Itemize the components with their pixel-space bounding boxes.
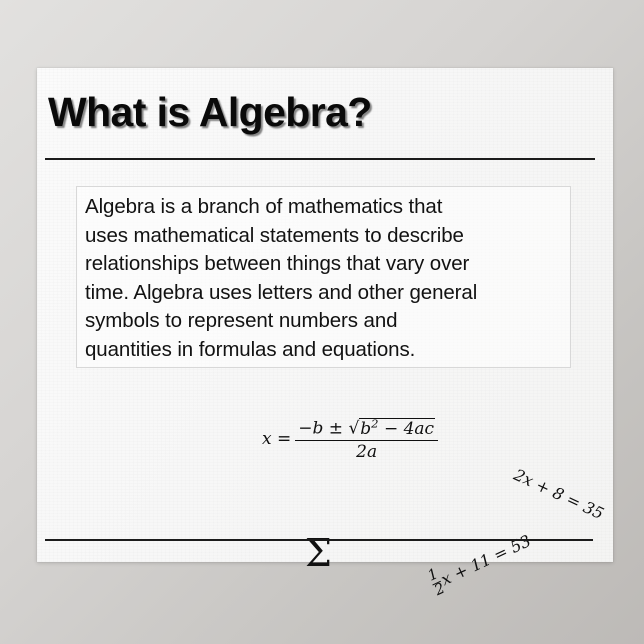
radicand-rest: − 4ac — [384, 419, 434, 439]
radicand-exponent: 2 — [371, 416, 378, 430]
quadratic-lhs: x = — [262, 429, 291, 449]
quadratic-formula: x = −b ± √b2 − 4ac 2a — [262, 416, 438, 462]
title-divider-rule — [45, 158, 595, 160]
body-paragraph: Algebra is a branch of mathematics that … — [85, 193, 562, 365]
quadratic-denominator: 2a — [356, 441, 377, 462]
quadratic-numerator: −b ± √b2 − 4ac — [295, 416, 438, 440]
rotated-equation-two: 1 2 x + 11 = 53 — [426, 526, 536, 599]
footer-divider-rule — [45, 539, 593, 541]
quadratic-numerator-prefix: −b ± — [298, 419, 343, 439]
poster-sheet: What is Algebra? Algebra is a branch of … — [37, 68, 613, 562]
rotated-equation-one: 2x + 8 = 35 — [511, 465, 607, 523]
body-text-box: Algebra is a branch of mathematics that … — [76, 186, 571, 368]
quadratic-fraction: −b ± √b2 − 4ac 2a — [295, 416, 438, 462]
page-title: What is Algebra? — [48, 87, 588, 137]
radicand-base: b — [360, 419, 371, 439]
square-root-icon: √b2 − 4ac — [348, 418, 435, 439]
